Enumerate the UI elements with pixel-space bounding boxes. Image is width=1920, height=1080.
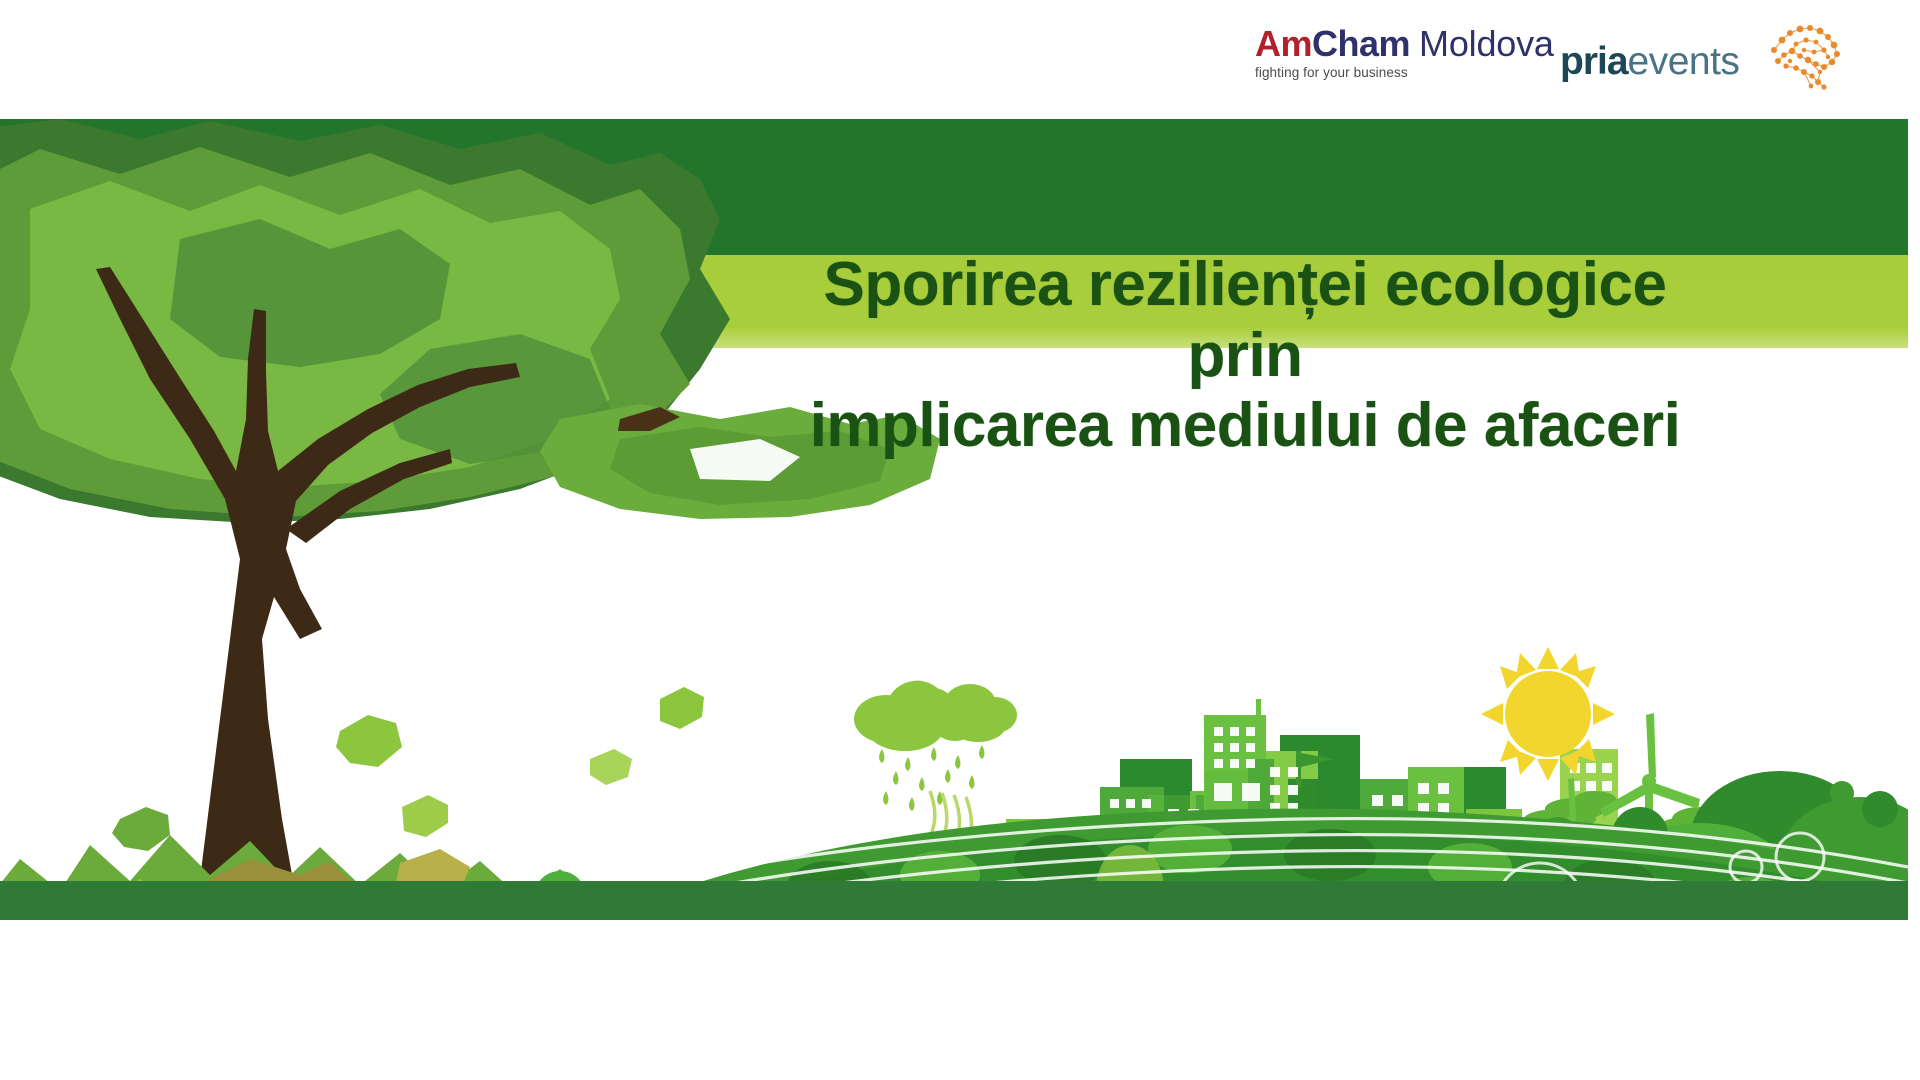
- priaevents-logo: priaevents: [1560, 20, 1850, 92]
- page-title: Sporirea rezilienței ecologice prin impl…: [600, 250, 1890, 462]
- partner-logos-bar: Ministerul Agriculturii, Dezvoltării Reg…: [0, 920, 1920, 1080]
- amcham-moldova-logo: Am Cham Moldova fighting for your busine…: [1255, 26, 1530, 88]
- amcham-cham-text: Cham: [1312, 26, 1410, 62]
- pria-events-text: events: [1628, 40, 1740, 83]
- amcham-wordmark: Am Cham Moldova: [1255, 26, 1530, 62]
- pria-bold-text: pria: [1560, 40, 1628, 83]
- tree-illustration: [0, 119, 940, 919]
- amcham-moldova-text: Moldova: [1419, 26, 1554, 62]
- title-line-3: implicarea mediului de afaceri: [810, 391, 1681, 460]
- title-line-1: Sporirea rezilienței ecologice: [824, 250, 1667, 319]
- eco-illustration: [0, 119, 1908, 920]
- brain-network-icon: [1756, 20, 1850, 90]
- event-banner: Sporirea rezilienței ecologice prin impl…: [0, 119, 1908, 920]
- amcham-tagline: fighting for your business: [1255, 65, 1530, 80]
- amcham-am-text: Am: [1255, 26, 1312, 62]
- title-line-2: prin: [1187, 321, 1302, 390]
- top-logo-bar: Am Cham Moldova fighting for your busine…: [0, 0, 1920, 119]
- sun-icon: [1481, 647, 1615, 781]
- slide-root: Am Cham Moldova fighting for your busine…: [0, 0, 1920, 1080]
- pria-wordmark: priaevents: [1560, 42, 1739, 81]
- rain-cloud-icon: [854, 681, 1017, 811]
